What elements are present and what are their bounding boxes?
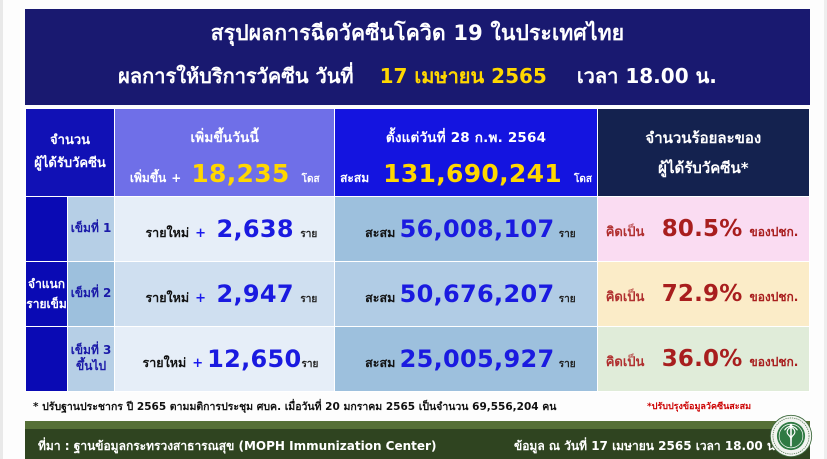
header-today-unit: โดส <box>302 172 320 187</box>
percentage-cell-3: คิดเป็น 36.0% ของปชก. <box>597 327 809 392</box>
today-unit-1: ราย <box>300 227 326 242</box>
cumulative-prefix-2: สะสม <box>343 288 395 308</box>
today-value-2: 2,947 <box>210 280 300 308</box>
percentage-unit-1: ของปชก. <box>750 223 799 242</box>
today-cell-1: รายใหม่ + 2,638 ราย <box>115 197 335 262</box>
today-value-row-3: รายใหม่ + 12,650 ราย <box>115 345 334 373</box>
cumulative-value-2: 50,676,207 <box>395 280 558 308</box>
cumulative-value-row-2: สะสม 50,676,207 ราย <box>335 280 596 308</box>
percentage-cell-2: คิดเป็น 72.9% ของปชก. <box>597 262 809 327</box>
percentage-value-1: 80.5% <box>662 216 743 242</box>
update-footnote: *ปรับปรุงข้อมูลวัคซีนสะสม <box>647 399 751 413</box>
today-unit-2: ราย <box>300 292 326 307</box>
percentage-value-row-3: คิดเป็น 36.0% ของปชก. <box>598 346 809 372</box>
cumulative-cell-1: สะสม 56,008,107 ราย <box>335 197 597 262</box>
header-today-value: 18,235 <box>191 159 289 188</box>
vaccination-summary-table: จำนวน ผู้ได้รับวัคซีน เพิ่มขึ้นวันนี้ เพ… <box>25 108 810 392</box>
table-row: เข็มที่ 1 รายใหม่ + 2,638 ราย สะสม 56,00… <box>26 197 810 262</box>
header-today-cell: เพิ่มขึ้นวันนี้ เพิ่มขึ้น + 18,235 โดส <box>115 109 335 197</box>
cumulative-unit-2: ราย <box>559 292 589 307</box>
cumulative-cell-3: สะสม 25,005,927 ราย <box>335 327 597 392</box>
today-cell-3: รายใหม่ + 12,650 ราย <box>115 327 335 392</box>
percentage-value-row-2: คิดเป็น 72.9% ของปชก. <box>598 281 809 307</box>
header-today-prefix: เพิ่มขึ้น <box>130 169 166 188</box>
moph-emblem-icon <box>769 414 813 458</box>
group-label-line2: รายเข็ม <box>26 294 67 314</box>
dose-label-3-line2: ขึ้นไป <box>68 359 114 375</box>
group-label-line1: จำแนก <box>26 274 67 294</box>
header-total-label: จำนวน ผู้ได้รับวัคซีน <box>26 109 115 197</box>
header-cumulative-prefix: สะสม <box>340 169 369 188</box>
cumulative-value-row-1: สะสม 56,008,107 ราย <box>335 215 596 243</box>
report-time: เวลา 18.00 น. <box>577 60 717 92</box>
subtitle-label: ผลการให้บริการวัคซีน วันที่ <box>118 60 353 92</box>
group-label-cell: จำแนก รายเข็ม <box>26 262 68 327</box>
group-label-spacer-top <box>26 197 68 262</box>
population-footnote: * ปรับฐานประชากร ปี 2565 ตามมติการประชุม… <box>33 398 556 415</box>
today-value-3: 12,650 <box>207 345 301 373</box>
today-plus-2: + <box>195 291 206 306</box>
table-header-row: จำนวน ผู้ได้รับวัคซีน เพิ่มขึ้นวันนี้ เพ… <box>26 109 810 197</box>
percentage-prefix-2: คิดเป็น <box>606 286 662 307</box>
percentage-unit-3: ของปชก. <box>750 353 799 372</box>
report-date: 17 เมษายน 2565 <box>380 60 547 92</box>
header-cumulative-value-row: สะสม 131,690,241 โดส <box>335 159 596 188</box>
header-cumulative-value: 131,690,241 <box>383 159 562 188</box>
cumulative-prefix-3: สะสม <box>343 353 395 373</box>
dose-label-1-line1: เข็มที่ 1 <box>68 221 114 237</box>
today-unit-3: ราย <box>302 357 327 372</box>
table-row: เข็มที่ 3 ขึ้นไป รายใหม่ + 12,650 ราย สะ… <box>26 327 810 392</box>
cumulative-value-1: 56,008,107 <box>395 215 558 243</box>
table-row: จำแนก รายเข็ม เข็มที่ 2 รายใหม่ + 2,947 … <box>26 262 810 327</box>
percentage-value-2: 72.9% <box>662 281 743 307</box>
header-today-value-row: เพิ่มขึ้น + 18,235 โดส <box>115 159 334 188</box>
header-today-caption: เพิ่มขึ้นวันนี้ <box>115 117 334 148</box>
percentage-prefix-1: คิดเป็น <box>606 221 662 242</box>
cumulative-value-row-3: สะสม 25,005,927 ราย <box>335 345 596 373</box>
today-value-row-1: รายใหม่ + 2,638 ราย <box>115 215 334 243</box>
cumulative-cell-2: สะสม 50,676,207 ราย <box>335 262 597 327</box>
percentage-unit-2: ของปชก. <box>750 288 799 307</box>
dose-label-3: เข็มที่ 3 ขึ้นไป <box>68 327 115 392</box>
header-total-line2: ผู้ได้รับวัคซีน <box>26 153 114 176</box>
header-cumulative-cell: ตั้งแต่วันที่ 28 ก.พ. 2564 สะสม 131,690,… <box>335 109 597 197</box>
today-prefix-1: รายใหม่ <box>123 223 189 243</box>
page-title: สรุปผลการฉีดวัคซีนโควิด 19 ในประเทศไทย <box>211 22 625 45</box>
infographic-page: สรุปผลการฉีดวัคซีนโควิด 19 ในประเทศไทย ผ… <box>0 0 827 459</box>
footer-accent-bar <box>25 421 810 429</box>
today-prefix-3: รายใหม่ <box>123 353 186 373</box>
today-cell-2: รายใหม่ + 2,947 ราย <box>115 262 335 327</box>
today-value-row-2: รายใหม่ + 2,947 ราย <box>115 280 334 308</box>
today-plus-1: + <box>195 226 206 241</box>
dose-label-3-line1: เข็มที่ 3 <box>68 343 114 359</box>
header-percentage-cell: จำนวนร้อยละของ ผู้ได้รับวัคซีน* <box>597 109 809 197</box>
cumulative-unit-1: ราย <box>559 227 589 242</box>
percentage-prefix-3: คิดเป็น <box>606 351 662 372</box>
cumulative-value-3: 25,005,927 <box>395 345 558 373</box>
today-prefix-2: รายใหม่ <box>123 288 189 308</box>
today-plus-3: + <box>192 356 203 371</box>
header-percentage-line1: จำนวนร้อยละของ <box>598 123 809 153</box>
header-cumulative-caption: ตั้งแต่วันที่ 28 ก.พ. 2564 <box>335 117 596 148</box>
header-cumulative-unit: โดส <box>574 172 592 187</box>
footer-source: ที่มา : ฐานข้อมูลกระทรวงสาธารณสุข (MOPH … <box>38 437 436 456</box>
dose-label-1: เข็มที่ 1 <box>68 197 115 262</box>
header-total-line1: จำนวน <box>26 130 114 153</box>
dose-label-2-line1: เข็มที่ 2 <box>68 286 114 302</box>
percentage-cell-1: คิดเป็น 80.5% ของปชก. <box>597 197 809 262</box>
footer-asof: ข้อมูล ณ วันที่ 17 เมษายน 2565 เวลา 18.0… <box>514 437 780 456</box>
percentage-value-3: 36.0% <box>662 346 743 372</box>
cumulative-unit-3: ราย <box>559 357 589 372</box>
header-percentage-line2: ผู้ได้รับวัคซีน* <box>598 153 809 183</box>
header-today-plus: + <box>171 171 181 185</box>
dose-label-2: เข็มที่ 2 <box>68 262 115 327</box>
cumulative-prefix-1: สะสม <box>343 223 395 243</box>
title-banner: สรุปผลการฉีดวัคซีนโควิด 19 ในประเทศไทย ผ… <box>25 9 810 105</box>
subtitle-line: ผลการให้บริการวัคซีน วันที่ 17 เมษายน 25… <box>118 60 717 92</box>
today-value-1: 2,638 <box>210 215 300 243</box>
percentage-value-row-1: คิดเป็น 80.5% ของปชก. <box>598 216 809 242</box>
group-label-spacer-bottom <box>26 327 68 392</box>
